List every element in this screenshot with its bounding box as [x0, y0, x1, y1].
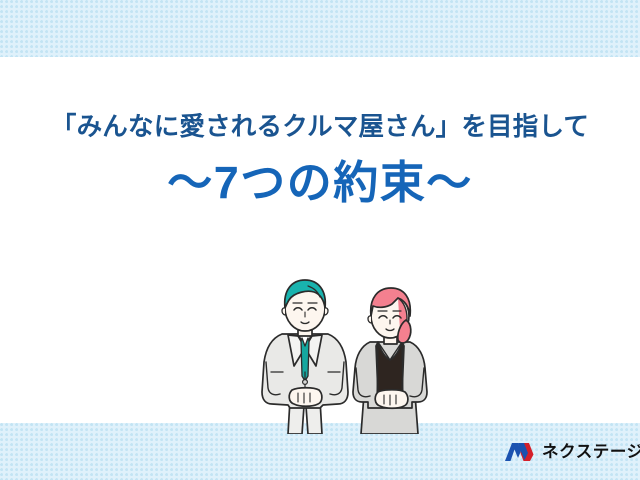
headline-primary: 「みんなに愛されるクルマ屋さん」を目指して [0, 112, 640, 143]
female-staff-figure [353, 288, 427, 434]
male-staff-figure [262, 280, 348, 434]
top-dot-band [0, 0, 640, 57]
nexstage-wordmark: ネクステージ [542, 444, 640, 461]
promise-banner: 「みんなに愛されるクルマ屋さん」を目指して ～7つの約束～ [0, 0, 640, 480]
nexstage-logo: ネクステージ [504, 440, 640, 464]
bowing-staff-illustration [228, 262, 436, 434]
staff-illustration-svg [228, 262, 436, 434]
nexstage-n-mark-icon [504, 440, 536, 464]
headline-block: 「みんなに愛されるクルマ屋さん」を目指して ～7つの約束～ [0, 112, 640, 209]
headline-secondary: ～7つの約束～ [0, 156, 640, 209]
